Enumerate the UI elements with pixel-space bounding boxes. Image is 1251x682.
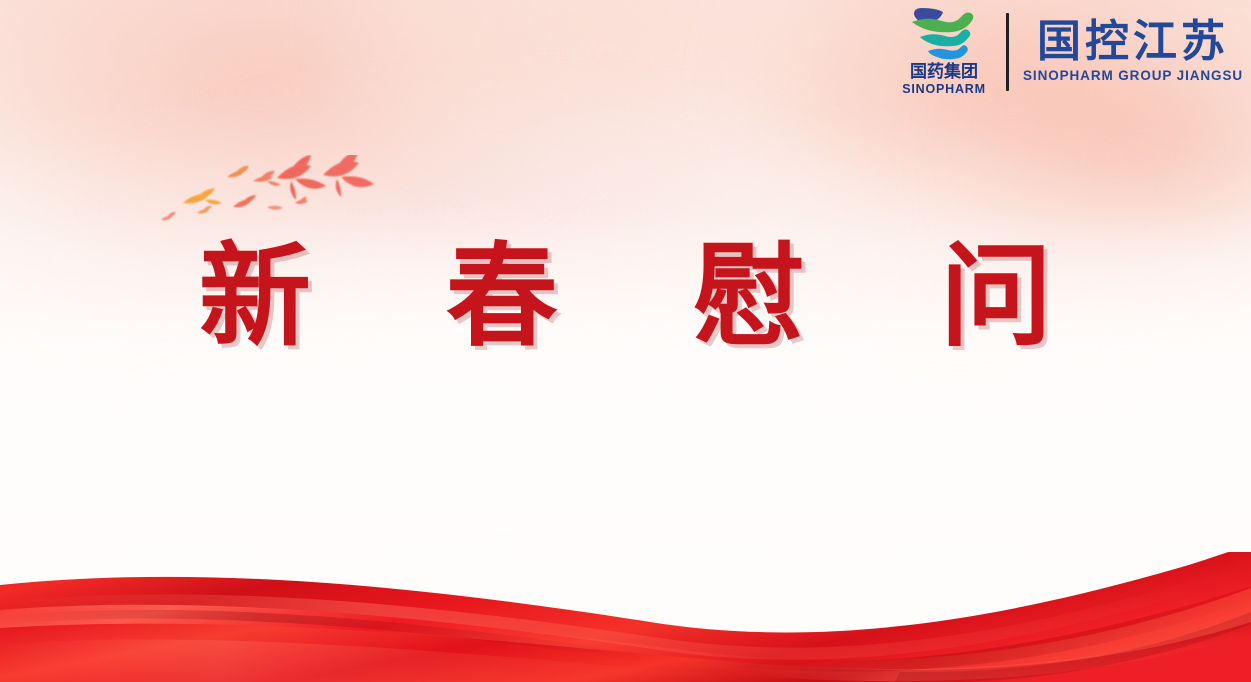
sinopharm-name-cn: 国药集团	[910, 63, 978, 82]
sinopharm-brand-mark: 国药集团 SINOPHARM	[896, 6, 1002, 97]
brand-divider	[1006, 13, 1009, 91]
poster-title-text: 新 春 慰 问	[147, 238, 1104, 356]
jiangsu-name-en: SINOPHARM GROUP JIANGSU	[1023, 68, 1243, 84]
red-silk-ribbon	[0, 552, 1251, 682]
poster-canvas: 新 春 慰 问 国药集团 SINOPHARM 国控江苏	[0, 0, 1251, 682]
sinopharm-name-en: SINOPHARM	[902, 82, 986, 98]
brand-lockup: 国药集团 SINOPHARM 国控江苏 SINOPHARM GROUP JIAN…	[896, 6, 1243, 97]
jiangsu-brand-name: 国控江苏 SINOPHARM GROUP JIANGSU	[1023, 17, 1243, 85]
jiangsu-name-cn: 国控江苏	[1037, 17, 1229, 66]
poster-title: 新 春 慰 问	[0, 238, 1251, 356]
sinopharm-wave-logo-icon	[906, 6, 982, 62]
